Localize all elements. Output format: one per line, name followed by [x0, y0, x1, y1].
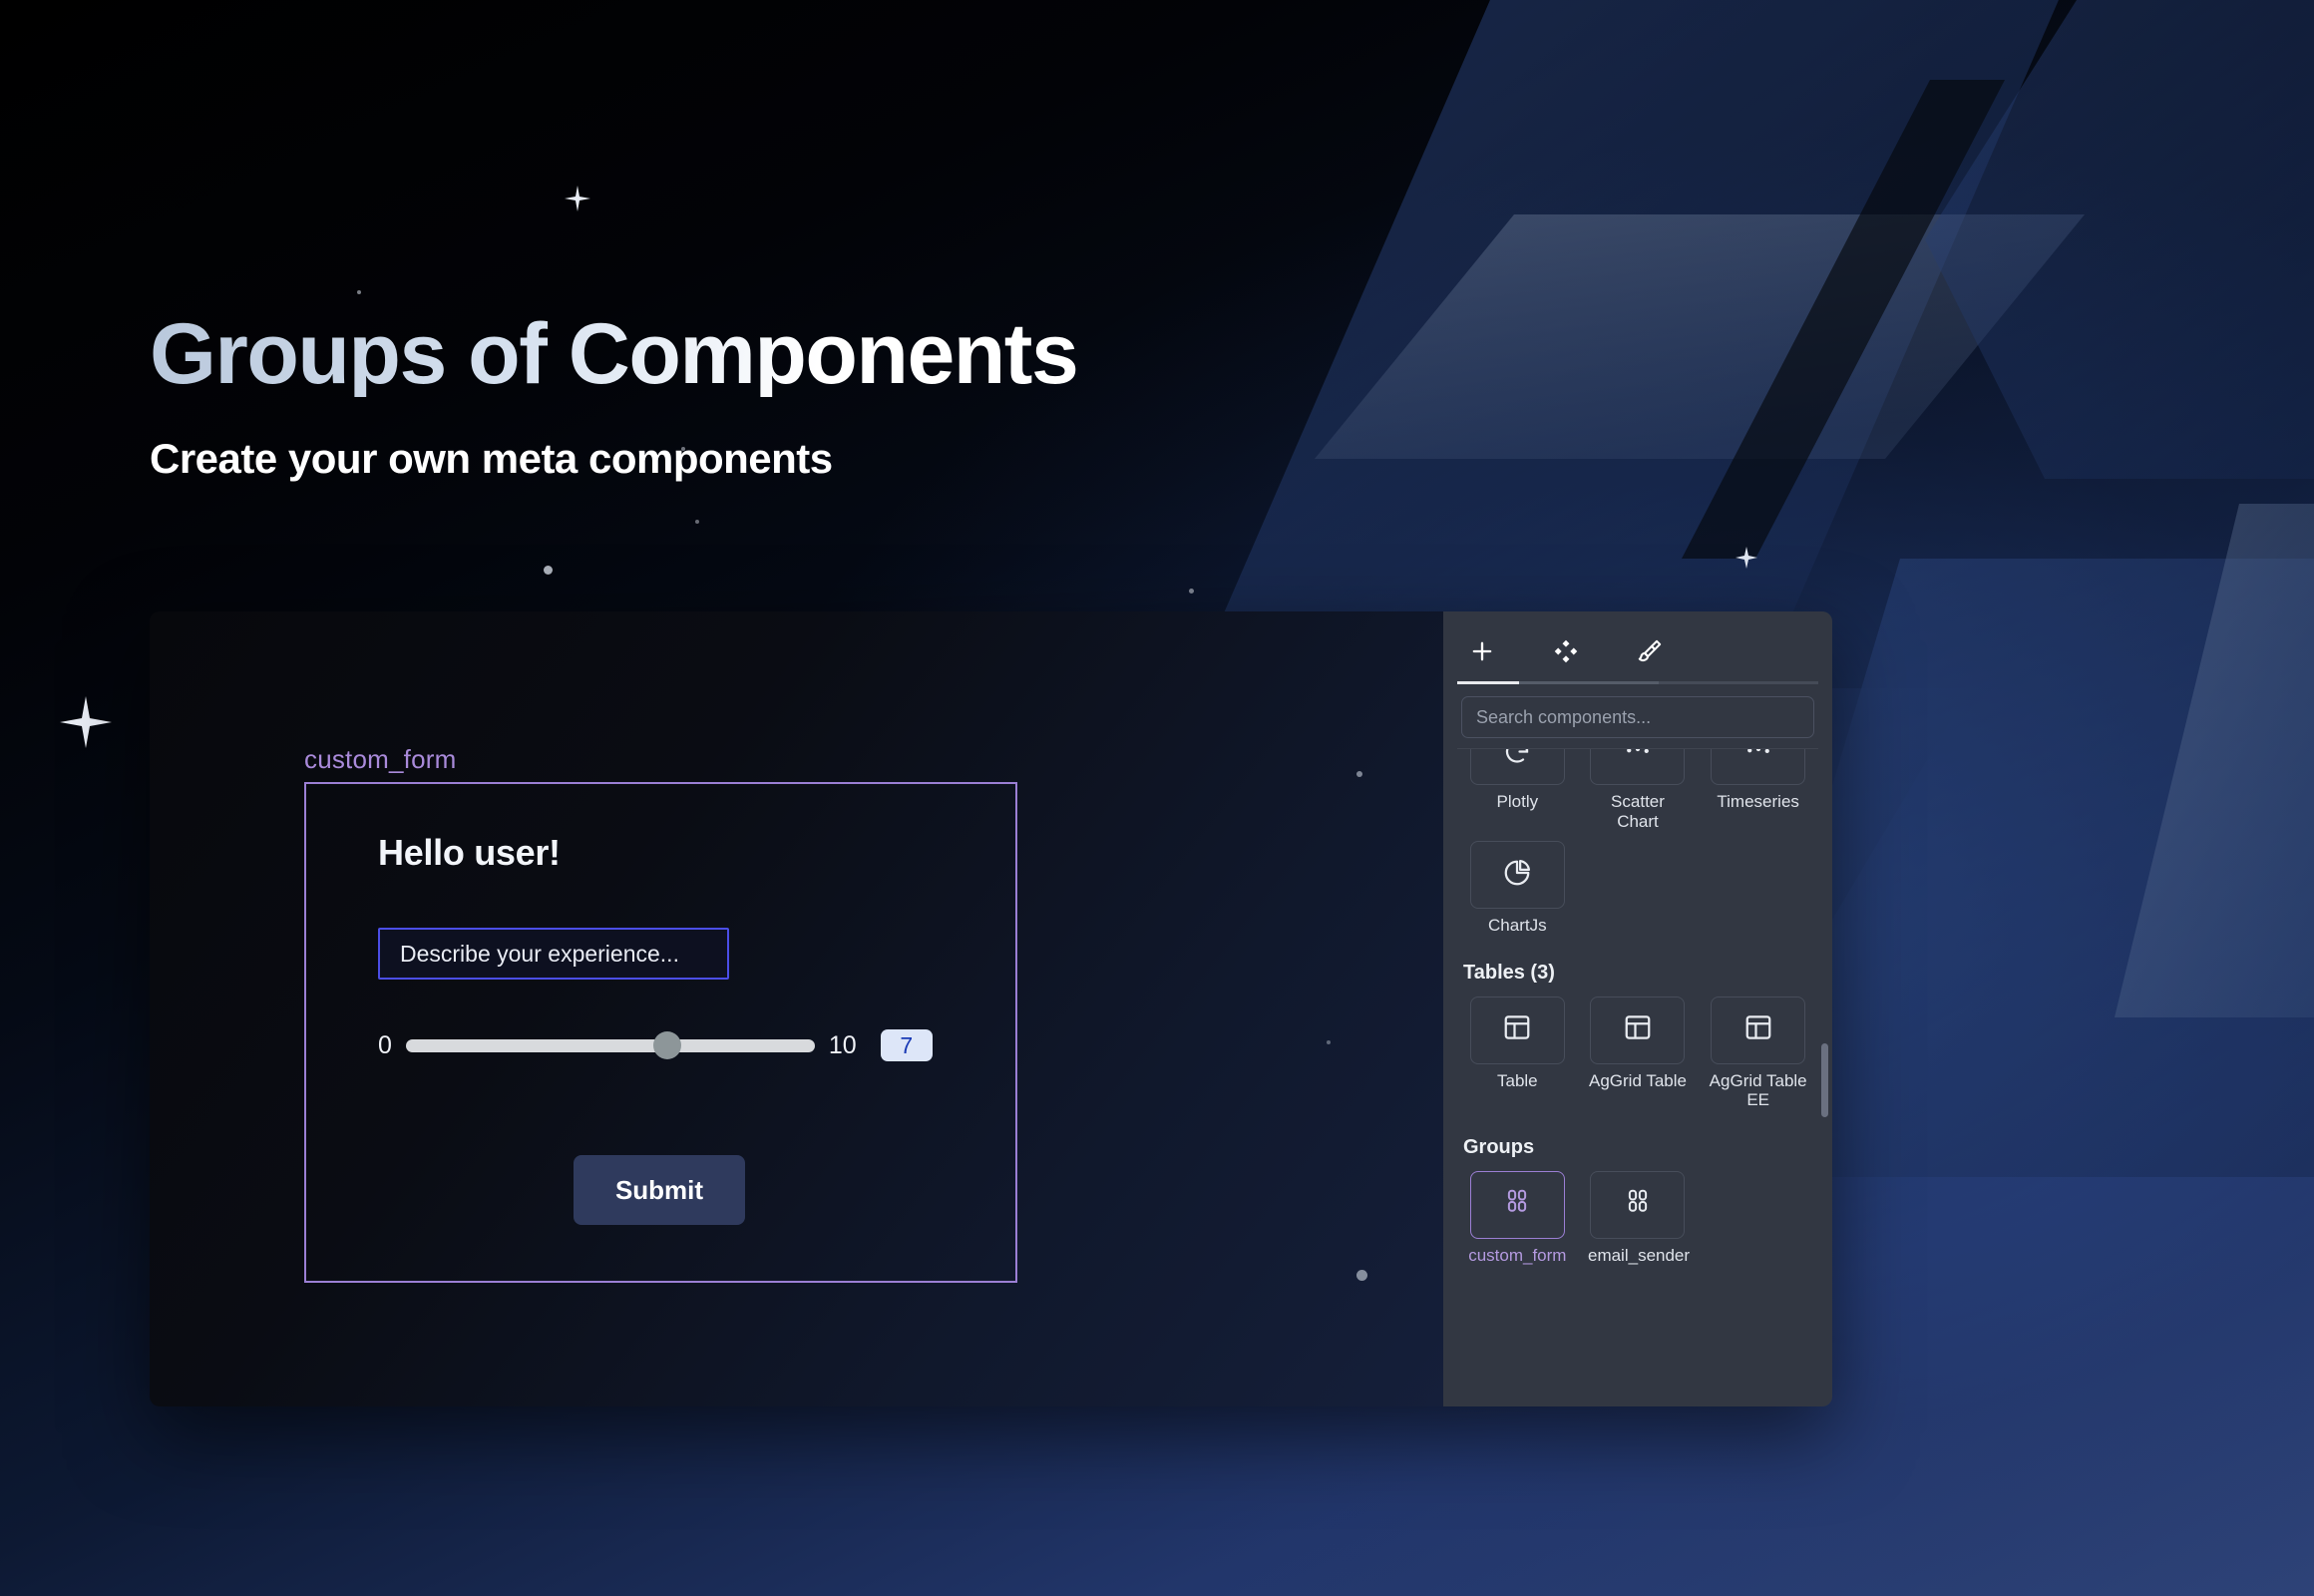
- component-table[interactable]: Table: [1461, 997, 1574, 1110]
- panel-scrollbar-thumb[interactable]: [1821, 1043, 1828, 1117]
- decorative-dot: [1189, 589, 1194, 594]
- panel-tab-bar: [1443, 611, 1832, 673]
- tab-progress-indicator: [1519, 681, 1659, 684]
- plotly-tile[interactable]: [1470, 749, 1565, 785]
- component-list-scroll-area[interactable]: Plotly Scatter Chart: [1443, 749, 1832, 1406]
- slider-max-label: 10: [829, 1031, 857, 1060]
- component-aggrid-table[interactable]: AgGrid Table: [1582, 997, 1695, 1110]
- add-component-tab[interactable]: [1465, 634, 1499, 668]
- rating-slider[interactable]: [406, 1039, 815, 1052]
- component-label: AgGrid Table: [1589, 1071, 1687, 1091]
- component-label: ChartJs: [1488, 916, 1547, 936]
- table-icon: [1743, 1012, 1773, 1047]
- page-title: Groups of Components: [150, 311, 1077, 397]
- table-icon: [1502, 1012, 1532, 1047]
- hero-text: Groups of Components Create your own met…: [150, 311, 1077, 483]
- charts-grid-row: Plotly Scatter Chart: [1461, 749, 1814, 831]
- component-label: Timeseries: [1717, 792, 1799, 812]
- component-group-custom-form[interactable]: custom_form: [1461, 1171, 1574, 1266]
- form-contents: Hello user! 0 10 7: [378, 832, 975, 1061]
- styles-tab[interactable]: [1633, 634, 1667, 668]
- table-tile[interactable]: [1470, 997, 1565, 1064]
- component-label: AgGrid Table EE: [1709, 1071, 1808, 1110]
- page-subtitle: Create your own meta components: [150, 435, 1077, 483]
- component-chartjs[interactable]: ChartJs: [1461, 841, 1574, 936]
- charts-grid-row-2: ChartJs: [1461, 841, 1814, 936]
- decorative-dot: [695, 520, 699, 524]
- decorative-dot: [1356, 1270, 1367, 1281]
- component-group-email-sender[interactable]: email_sender: [1582, 1171, 1695, 1266]
- component-scatter-chart[interactable]: Scatter Chart: [1582, 749, 1695, 831]
- rating-slider-row: 0 10 7: [378, 1029, 975, 1061]
- component-label: Plotly: [1497, 792, 1539, 812]
- aggrid-table-tile[interactable]: [1590, 997, 1685, 1064]
- tables-section-title: Tables (3): [1463, 962, 1814, 985]
- groups-grid: custom_form: [1461, 1171, 1814, 1266]
- slider-thumb[interactable]: [653, 1031, 681, 1059]
- experience-text-input[interactable]: [378, 928, 729, 980]
- tables-grid: Table AgGrid Table: [1461, 997, 1814, 1110]
- group-icon: [1502, 1187, 1532, 1222]
- scatter-chart-tile[interactable]: [1590, 749, 1685, 785]
- component-label: Scatter Chart: [1588, 792, 1688, 831]
- custom-form-group[interactable]: custom_form Hello user! 0 10 7: [304, 746, 1017, 1283]
- editor-canvas[interactable]: custom_form Hello user! 0 10 7: [150, 611, 1443, 1406]
- tab-underline: [1457, 681, 1818, 684]
- decorative-dot: [1356, 771, 1362, 777]
- component-aggrid-table-ee[interactable]: AgGrid Table EE: [1702, 997, 1814, 1110]
- component-label: custom_form: [1468, 1246, 1566, 1266]
- groups-section-title: Groups: [1463, 1136, 1814, 1159]
- component-timeseries[interactable]: Timeseries: [1702, 749, 1814, 831]
- group-boundary[interactable]: Hello user! 0 10 7 Submit: [304, 782, 1017, 1283]
- components-tab[interactable]: [1549, 634, 1583, 668]
- app-window: custom_form Hello user! 0 10 7: [150, 611, 1832, 1406]
- email-sender-group-tile[interactable]: [1590, 1171, 1685, 1239]
- search-components-input[interactable]: [1461, 696, 1814, 738]
- scatter-dots-icon: [1743, 749, 1773, 769]
- component-library-panel: Plotly Scatter Chart: [1443, 611, 1832, 1406]
- page-background: Groups of Components Create your own met…: [0, 0, 2314, 1596]
- group-icon: [1623, 1187, 1653, 1222]
- slider-value-badge: 7: [881, 1029, 933, 1061]
- pie-chart-icon: [1502, 858, 1532, 893]
- search-wrapper: [1443, 684, 1832, 748]
- slider-min-label: 0: [378, 1031, 392, 1060]
- component-plotly[interactable]: Plotly: [1461, 749, 1574, 831]
- tab-active-indicator: [1457, 681, 1519, 684]
- table-icon: [1623, 1012, 1653, 1047]
- component-label: email_sender: [1588, 1246, 1688, 1266]
- chartjs-tile[interactable]: [1470, 841, 1565, 909]
- decorative-dot: [544, 566, 553, 575]
- form-heading: Hello user!: [378, 832, 975, 874]
- gauge-icon: [1502, 749, 1532, 769]
- timeseries-tile[interactable]: [1711, 749, 1805, 785]
- decorative-dot: [357, 290, 361, 294]
- scatter-dots-icon: [1623, 749, 1653, 769]
- aggrid-table-ee-tile[interactable]: [1711, 997, 1805, 1064]
- custom-form-group-tile[interactable]: [1470, 1171, 1565, 1239]
- submit-button[interactable]: Submit: [574, 1155, 745, 1225]
- group-name-label: custom_form: [304, 746, 1017, 772]
- decorative-dot: [1327, 1040, 1331, 1044]
- component-label: Table: [1497, 1071, 1538, 1091]
